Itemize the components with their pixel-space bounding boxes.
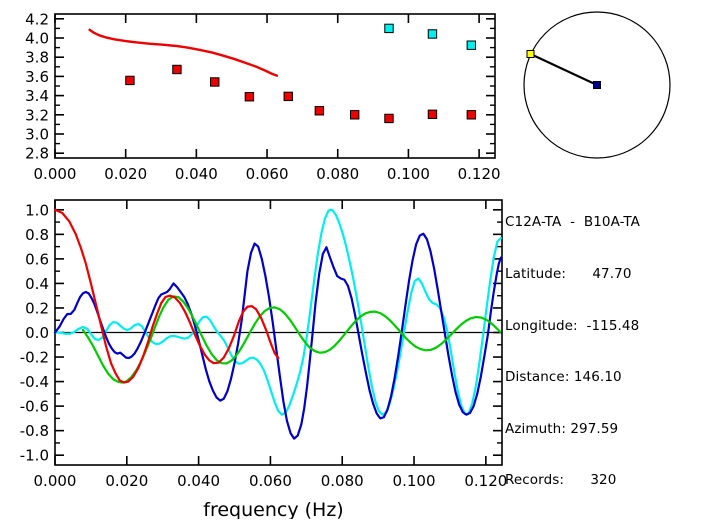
y-tick-label: -0.8 — [20, 422, 49, 440]
data-point-marker — [428, 30, 436, 38]
data-point-marker — [350, 111, 358, 119]
azimuth-svg — [505, 0, 703, 178]
distance-line: Distance: 146.10 — [505, 369, 703, 386]
plot-page: 2.83.03.23.43.63.84.04.20.0000.0200.0400… — [0, 0, 703, 519]
y-tick-label: 0.4 — [25, 275, 49, 293]
azimuth-ray-line — [531, 54, 598, 85]
center-station-marker — [594, 82, 601, 89]
series-reference-dispersion-curve — [90, 30, 277, 76]
y-tick-label: 3.6 — [25, 68, 49, 86]
y-tick-label: 4.2 — [25, 10, 49, 28]
records-line: Records: 320 — [505, 472, 703, 489]
x-tick-label: 0.080 — [316, 165, 359, 183]
y-tick-label: -0.2 — [20, 349, 49, 367]
data-point-marker — [467, 41, 475, 49]
data-point-marker — [284, 92, 292, 100]
x-tick-label: 0.080 — [321, 472, 364, 490]
x-tick-label: 0.100 — [387, 165, 430, 183]
x-tick-label: 0.120 — [464, 472, 507, 490]
data-point-marker — [211, 78, 219, 86]
data-point-marker — [385, 114, 393, 122]
y-tick-label: -0.4 — [20, 373, 49, 391]
x-tick-label: 0.040 — [175, 165, 218, 183]
y-tick-label: 0.6 — [25, 250, 49, 268]
data-point-marker — [173, 65, 181, 73]
y-tick-label: -1.0 — [20, 447, 49, 465]
y-tick-label: 3.8 — [25, 49, 49, 67]
x-axis-label: frequency (Hz) — [203, 499, 343, 519]
x-tick-label: 0.120 — [458, 165, 501, 183]
cross-correlation-svg: -1.0-0.8-0.6-0.4-0.20.00.20.40.60.81.00.… — [0, 190, 510, 519]
x-tick-label: 0.000 — [34, 472, 77, 490]
x-tick-label: 0.040 — [177, 472, 220, 490]
data-point-marker — [385, 24, 393, 32]
phase-velocity-svg: 2.83.03.23.43.63.84.04.20.0000.0200.0400… — [0, 0, 510, 190]
series-measured-cyan-points — [385, 24, 476, 49]
azimuth-line: Azimuth: 297.59 — [505, 421, 703, 438]
x-tick-label: 0.060 — [249, 472, 292, 490]
remote-station-marker — [527, 51, 534, 58]
y-tick-label: 4.0 — [25, 30, 49, 48]
y-tick-label: 3.0 — [25, 126, 49, 144]
x-tick-label: 0.020 — [105, 472, 148, 490]
phase-velocity-plot: 2.83.03.23.43.63.84.04.20.0000.0200.0400… — [0, 0, 510, 190]
cross-correlation-plot: -1.0-0.8-0.6-0.4-0.20.00.20.40.60.81.00.… — [0, 190, 510, 519]
station-info-panel: C12A-TA - B10A-TA Latitude: 47.70 Longit… — [505, 180, 703, 300]
data-point-marker — [126, 76, 134, 84]
y-tick-label: -0.6 — [20, 398, 49, 416]
x-tick-label: 0.020 — [104, 165, 147, 183]
y-tick-label: 1.0 — [25, 201, 49, 219]
data-point-marker — [315, 107, 323, 115]
y-tick-label: 3.2 — [25, 106, 49, 124]
x-tick-label: 0.100 — [393, 472, 436, 490]
data-point-marker — [467, 111, 475, 119]
latitude-line: Latitude: 47.70 — [505, 266, 703, 283]
series-measured-red-points — [126, 65, 476, 122]
y-tick-label: 0.0 — [25, 324, 49, 342]
x-tick-label: 0.060 — [246, 165, 289, 183]
series-cyan-observed-trace — [55, 210, 501, 415]
series-green-model-trace — [83, 296, 500, 382]
data-point-marker — [428, 110, 436, 118]
longitude-line: Longitude: -115.48 — [505, 318, 703, 335]
y-tick-label: 2.8 — [25, 145, 49, 163]
y-tick-label: 3.4 — [25, 87, 49, 105]
x-tick-label: 0.000 — [34, 165, 77, 183]
y-tick-label: 0.2 — [25, 299, 49, 317]
station-pair-title: C12A-TA - B10A-TA — [505, 214, 703, 231]
azimuth-diagram — [505, 0, 703, 178]
data-point-marker — [245, 93, 253, 101]
y-tick-label: 0.8 — [25, 226, 49, 244]
